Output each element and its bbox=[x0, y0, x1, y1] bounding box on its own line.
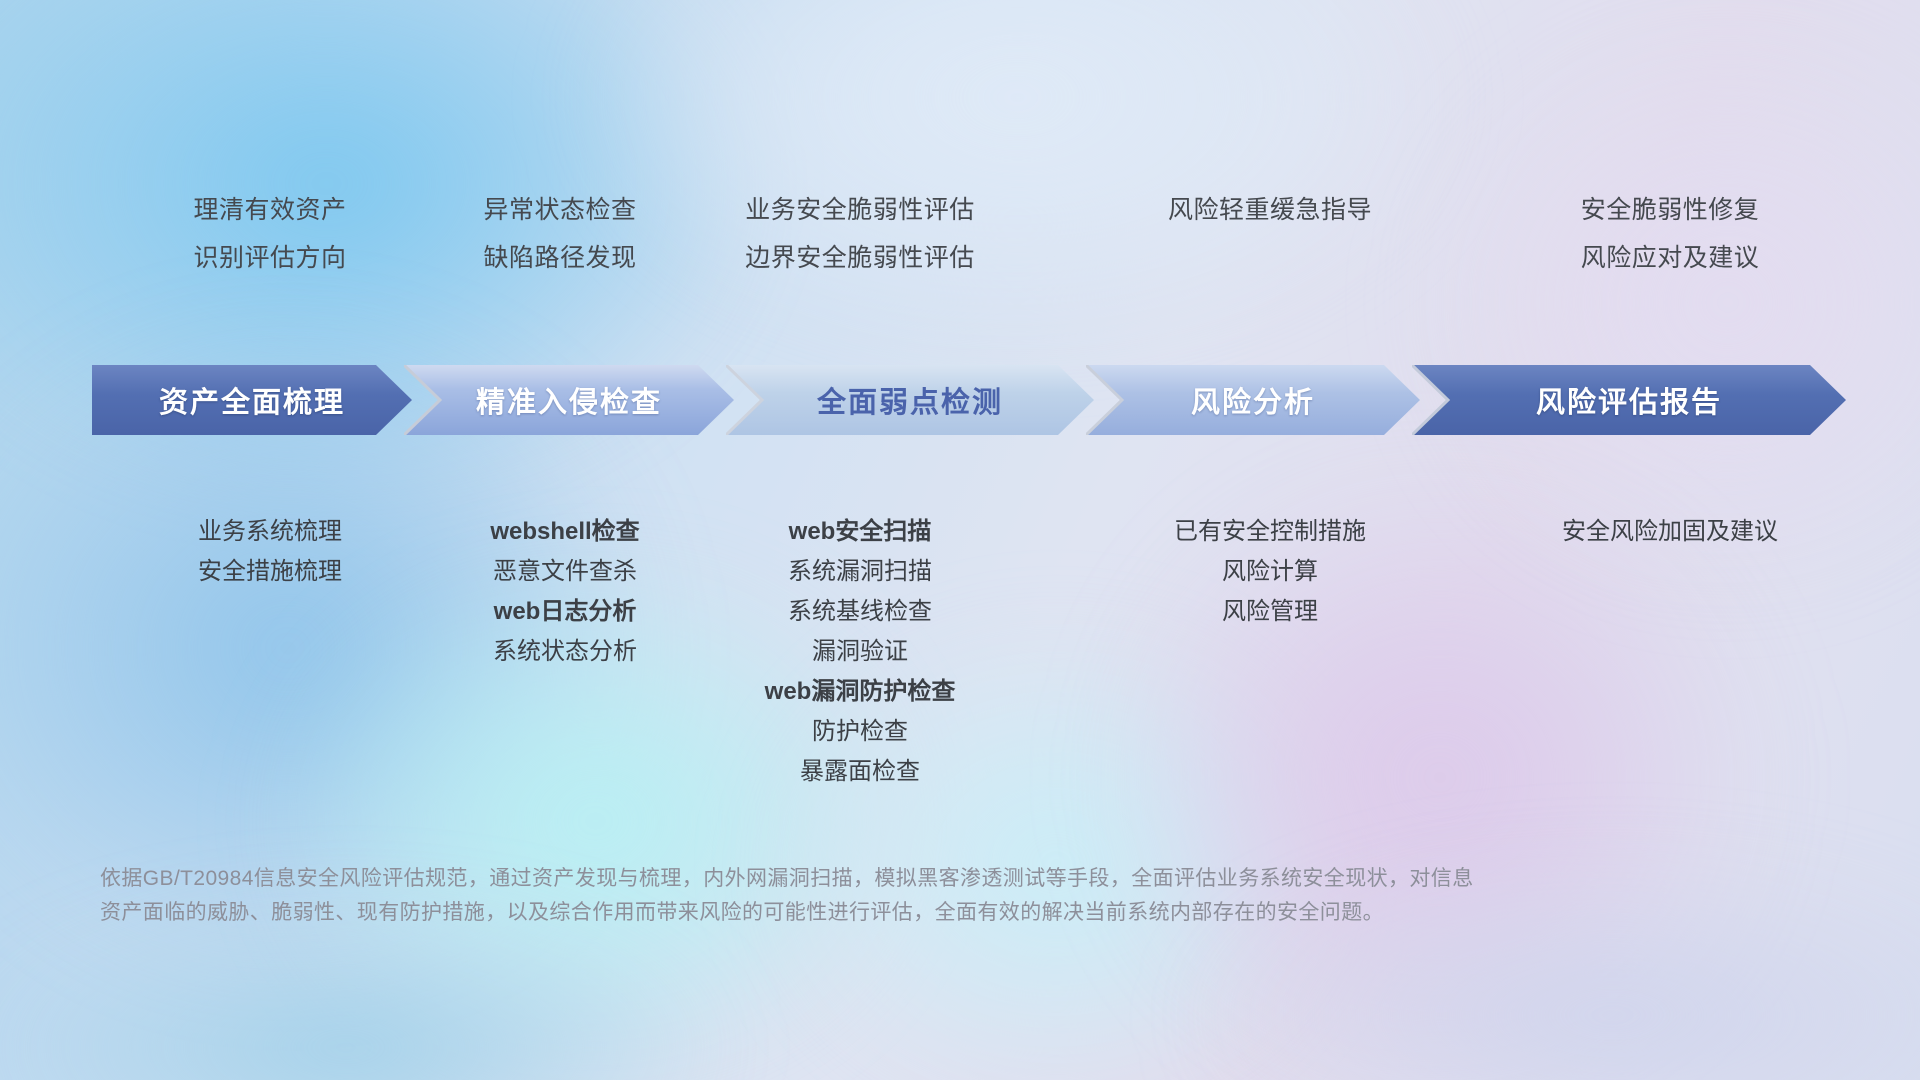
bottom-item: 系统基线检查 bbox=[660, 592, 1060, 632]
top-items-risk-analysis: 风险轻重缓急指导 bbox=[1060, 186, 1480, 234]
top-item: 风险应对及建议 bbox=[1460, 234, 1880, 282]
top-item: 安全脆弱性修复 bbox=[1460, 186, 1880, 234]
footer-description: 依据GB/T20984信息安全风险评估规范，通过资产发现与梳理，内外网漏洞扫描，… bbox=[100, 862, 1740, 930]
stage-arrow-risk-report[interactable]: 风险评估报告 bbox=[1412, 365, 1846, 435]
top-item: 边界安全脆弱性评估 bbox=[640, 234, 1080, 282]
bottom-items-weakness-detect: web安全扫描 系统漏洞扫描 系统基线检查 漏洞验证 web漏洞防护检查 防护检… bbox=[660, 512, 1060, 792]
bottom-item: web漏洞防护检查 bbox=[660, 672, 1060, 712]
top-item: 风险轻重缓急指导 bbox=[1060, 186, 1480, 234]
stage-arrow-weakness-detect[interactable]: 全面弱点检测 bbox=[726, 365, 1094, 435]
top-item: 业务安全脆弱性评估 bbox=[640, 186, 1080, 234]
top-items-risk-report: 安全脆弱性修复 风险应对及建议 bbox=[1460, 186, 1880, 282]
bottom-item: 安全风险加固及建议 bbox=[1450, 512, 1890, 552]
bottom-item: web安全扫描 bbox=[660, 512, 1060, 552]
stage-arrow-risk-analysis[interactable]: 风险分析 bbox=[1086, 365, 1420, 435]
stage-label: 精准入侵检查 bbox=[476, 379, 662, 421]
bottom-items-risk-report: 安全风险加固及建议 bbox=[1450, 512, 1890, 552]
bottom-item: 风险管理 bbox=[1060, 592, 1480, 632]
bottom-item: 风险计算 bbox=[1060, 552, 1480, 592]
stage-label: 全面弱点检测 bbox=[817, 379, 1003, 421]
bottom-item: 已有安全控制措施 bbox=[1060, 512, 1480, 552]
stage-label: 风险分析 bbox=[1191, 379, 1315, 421]
bottom-item: 系统漏洞扫描 bbox=[660, 552, 1060, 592]
stage-arrow-asset-review[interactable]: 资产全面梳理 bbox=[92, 365, 412, 435]
bottom-item: 暴露面检查 bbox=[660, 752, 1060, 792]
bottom-item: 漏洞验证 bbox=[660, 632, 1060, 672]
stage-arrow-intrusion-check[interactable]: 精准入侵检查 bbox=[404, 365, 734, 435]
process-arrow-band: 资产全面梳理 精准入侵检查 bbox=[0, 365, 1920, 435]
footer-line: 资产面临的威胁、脆弱性、现有防护措施，以及综合作用而带来风险的可能性进行评估，全… bbox=[100, 896, 1740, 930]
bottom-items-risk-analysis: 已有安全控制措施 风险计算 风险管理 bbox=[1060, 512, 1480, 632]
top-items-weakness-detect: 业务安全脆弱性评估 边界安全脆弱性评估 bbox=[640, 186, 1080, 282]
stage-label: 资产全面梳理 bbox=[159, 379, 345, 421]
bottom-item: 防护检查 bbox=[660, 712, 1060, 752]
footer-line: 依据GB/T20984信息安全风险评估规范，通过资产发现与梳理，内外网漏洞扫描，… bbox=[100, 862, 1740, 896]
stage-label: 风险评估报告 bbox=[1536, 379, 1722, 421]
